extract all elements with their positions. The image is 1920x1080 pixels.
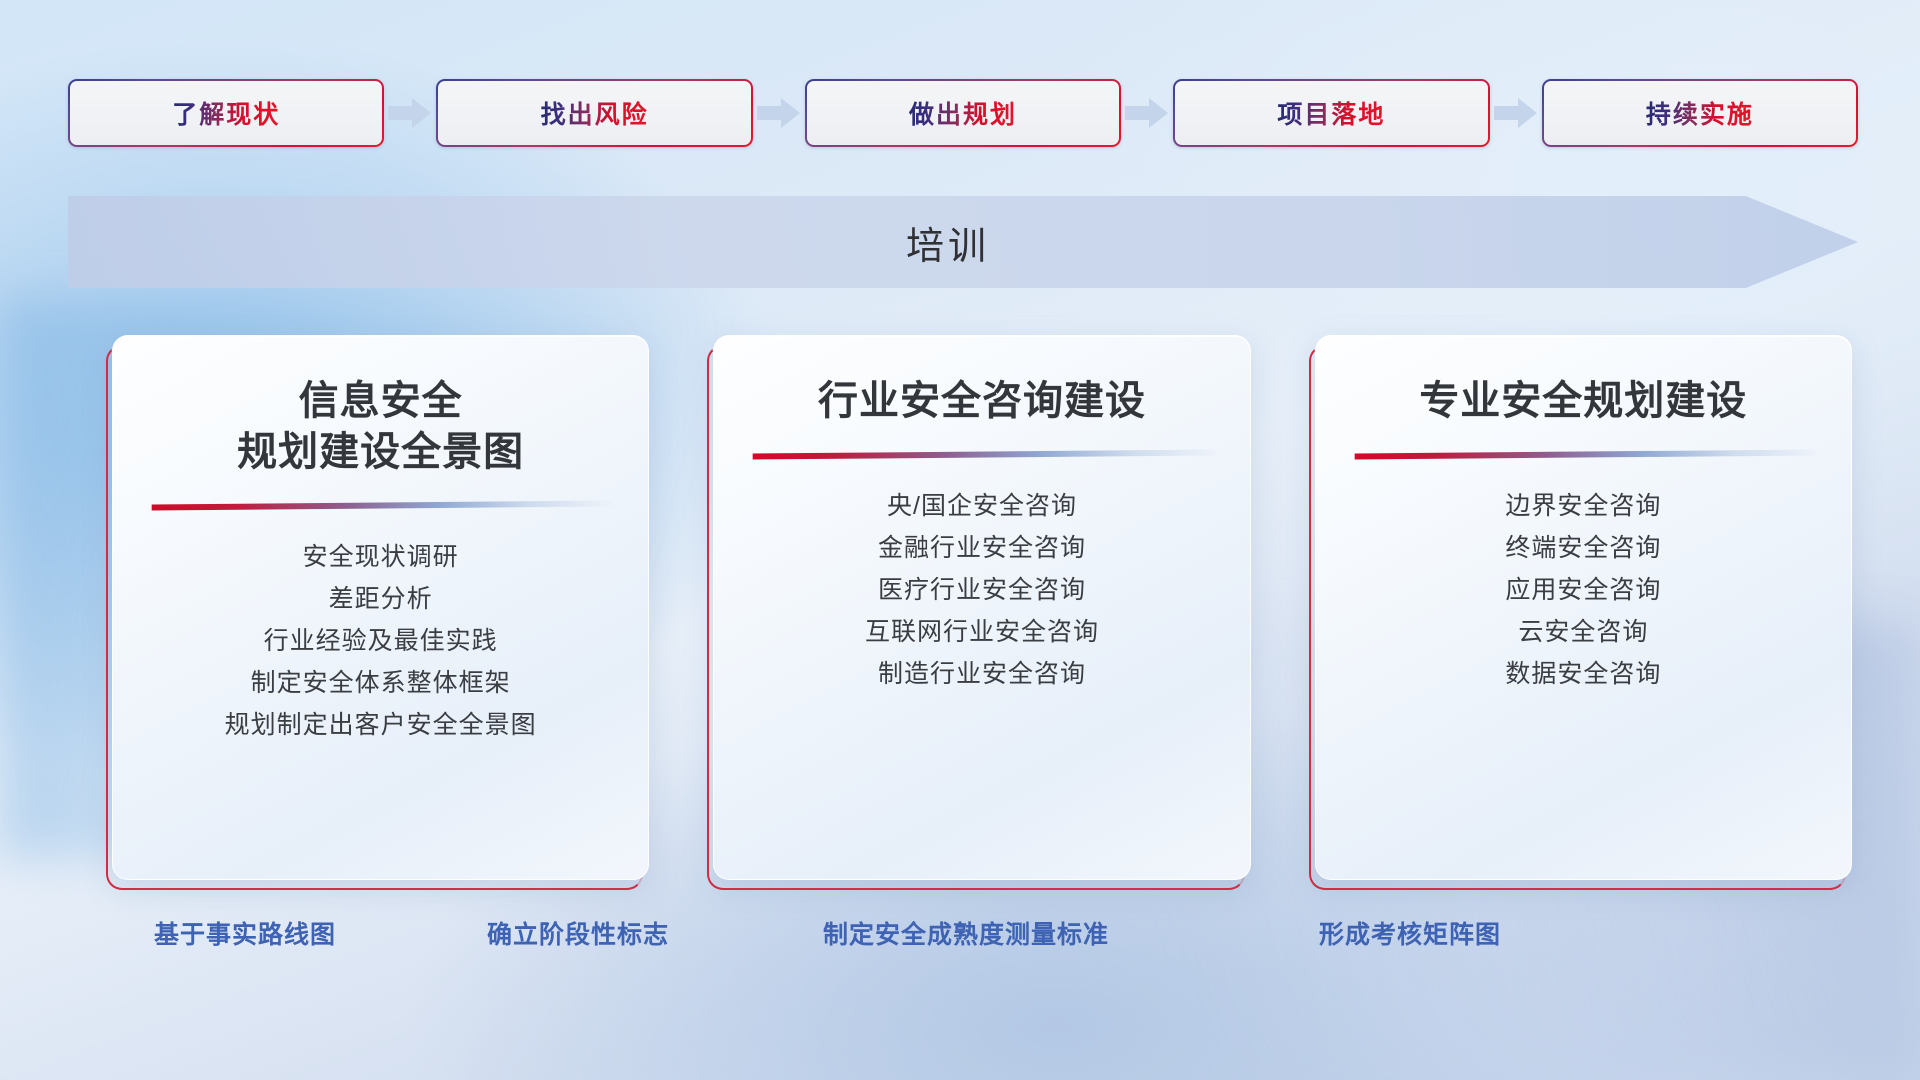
step-box-inner: 持续实施 <box>1544 81 1856 145</box>
list-item[interactable]: 央/国企安全咨询 <box>748 485 1215 527</box>
card-divider <box>147 500 614 512</box>
card-panel[interactable]: 信息安全规划建设全景图安全现状调研差距分析行业经验及最佳实践制定安全体系整体框架… <box>112 335 649 880</box>
card-item-list: 央/国企安全咨询金融行业安全咨询医疗行业安全咨询互联网行业安全咨询制造行业安全咨… <box>748 485 1215 695</box>
card-2: 行业安全咨询建设央/国企安全咨询金融行业安全咨询医疗行业安全咨询互联网行业安全咨… <box>713 335 1250 880</box>
step-label: 了解现状 <box>172 95 280 131</box>
list-item[interactable]: 互联网行业安全咨询 <box>748 611 1215 653</box>
step-box-inner: 项目落地 <box>1175 81 1487 145</box>
step-box-inner: 找出风险 <box>438 81 750 145</box>
step-box-inner: 做出规划 <box>807 81 1119 145</box>
card-panel[interactable]: 行业安全咨询建设央/国企安全咨询金融行业安全咨询医疗行业安全咨询互联网行业安全咨… <box>713 335 1250 880</box>
step-box-3[interactable]: 做出规划 <box>805 79 1121 147</box>
card-title-line: 信息安全 <box>237 376 524 427</box>
card-title: 行业安全咨询建设 <box>818 376 1146 427</box>
card-1: 信息安全规划建设全景图安全现状调研差距分析行业经验及最佳实践制定安全体系整体框架… <box>112 335 649 880</box>
list-item[interactable]: 规划制定出客户安全全景图 <box>147 704 614 746</box>
step-label: 持续实施 <box>1646 95 1754 131</box>
list-item[interactable]: 金融行业安全咨询 <box>748 527 1215 569</box>
list-item[interactable]: 制定安全体系整体框架 <box>147 662 614 704</box>
list-item[interactable]: 安全现状调研 <box>147 536 614 578</box>
list-item[interactable]: 差距分析 <box>147 578 614 620</box>
step-box-1[interactable]: 了解现状 <box>68 79 384 147</box>
card-divider <box>748 449 1215 461</box>
card-title: 专业安全规划建设 <box>1419 376 1747 427</box>
list-item[interactable]: 边界安全咨询 <box>1350 485 1817 527</box>
list-item[interactable]: 行业经验及最佳实践 <box>147 620 614 662</box>
arrow-right-icon <box>384 96 436 130</box>
step-box-5[interactable]: 持续实施 <box>1542 79 1858 147</box>
training-band: 培训 <box>68 196 1858 288</box>
list-item[interactable]: 终端安全咨询 <box>1350 527 1817 569</box>
step-label: 做出规划 <box>909 95 1017 131</box>
step-label: 项目落地 <box>1277 95 1385 131</box>
arrow-right-icon <box>753 96 805 130</box>
step-box-4[interactable]: 项目落地 <box>1173 79 1489 147</box>
caption-2: 确立阶段性标志 <box>487 915 669 951</box>
card-item-list: 安全现状调研差距分析行业经验及最佳实践制定安全体系整体框架规划制定出客户安全全景… <box>147 536 614 746</box>
band-label: 培训 <box>68 196 1828 288</box>
card-title-line: 规划建设全景图 <box>237 427 524 478</box>
arrow-right-icon <box>1121 96 1173 130</box>
arrow-right-icon <box>1490 96 1542 130</box>
step-box-2[interactable]: 找出风险 <box>436 79 752 147</box>
list-item[interactable]: 云安全咨询 <box>1350 611 1817 653</box>
list-item[interactable]: 应用安全咨询 <box>1350 569 1817 611</box>
card-panel[interactable]: 专业安全规划建设边界安全咨询终端安全咨询应用安全咨询云安全咨询数据安全咨询 <box>1315 335 1852 880</box>
caption-4: 形成考核矩阵图 <box>1319 915 1501 951</box>
card-title: 信息安全规划建设全景图 <box>237 376 524 478</box>
list-item[interactable]: 制造行业安全咨询 <box>748 653 1215 695</box>
card-title-line: 专业安全规划建设 <box>1419 376 1747 427</box>
list-item[interactable]: 数据安全咨询 <box>1350 653 1817 695</box>
caption-3: 制定安全成熟度测量标准 <box>823 915 1109 951</box>
list-item[interactable]: 医疗行业安全咨询 <box>748 569 1215 611</box>
process-step-row: 了解现状找出风险做出规划项目落地持续实施 <box>68 78 1858 148</box>
step-label: 找出风险 <box>541 95 649 131</box>
step-box-inner: 了解现状 <box>70 81 382 145</box>
caption-1: 基于事实路线图 <box>154 915 336 951</box>
caption-row: 基于事实路线图确立阶段性标志制定安全成熟度测量标准形成考核矩阵图 <box>0 915 1920 965</box>
card-divider <box>1350 449 1817 461</box>
card-row: 信息安全规划建设全景图安全现状调研差距分析行业经验及最佳实践制定安全体系整体框架… <box>112 335 1852 880</box>
card-item-list: 边界安全咨询终端安全咨询应用安全咨询云安全咨询数据安全咨询 <box>1350 485 1817 695</box>
card-title-line: 行业安全咨询建设 <box>818 376 1146 427</box>
card-3: 专业安全规划建设边界安全咨询终端安全咨询应用安全咨询云安全咨询数据安全咨询 <box>1315 335 1852 880</box>
